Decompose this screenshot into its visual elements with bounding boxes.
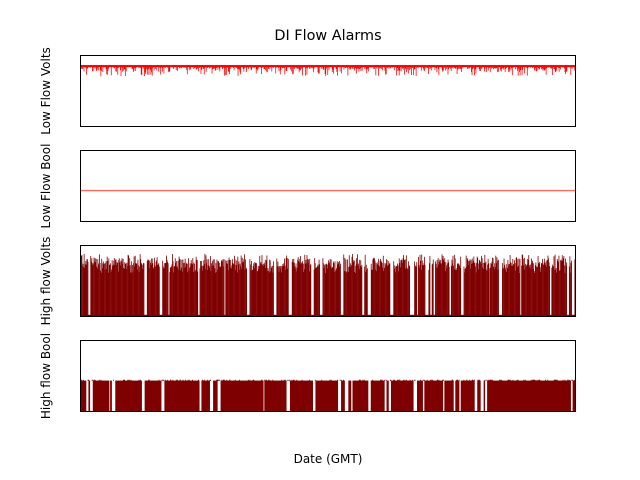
xtick-mark xyxy=(166,221,167,222)
xtick-mark xyxy=(571,316,572,317)
xtick-mark xyxy=(282,221,283,222)
subplot-low-flow-volts: 5 0 10-30 1210-30 1610-30 2010-31 0010-3… xyxy=(80,55,576,127)
xtick-mark xyxy=(108,221,109,222)
data-trace-high-flow-bool xyxy=(81,341,575,411)
xtick-mark xyxy=(282,411,283,412)
xtick-mark xyxy=(339,411,340,412)
subplot-low-flow-bool: 2 0 10-30 1210-30 1610-30 2010-31 0010-3… xyxy=(80,150,576,222)
xtick-mark xyxy=(397,221,398,222)
xtick-mark xyxy=(571,411,572,412)
xtick-mark xyxy=(224,411,225,412)
xtick-mark xyxy=(397,411,398,412)
xtick-mark xyxy=(339,316,340,317)
xtick-mark xyxy=(282,126,283,127)
matplotlib-figure: DI Flow Alarms 5 0 10-30 1210-30 1610-30… xyxy=(0,0,640,480)
xtick-mark xyxy=(513,221,514,222)
chart-title: DI Flow Alarms xyxy=(80,28,576,44)
xtick-mark xyxy=(108,316,109,317)
xtick-mark xyxy=(108,126,109,127)
xtick-mark xyxy=(339,126,340,127)
data-trace-low-flow-volts xyxy=(81,56,575,126)
data-trace-low-flow-bool xyxy=(81,151,575,221)
xtick-mark xyxy=(455,126,456,127)
xtick-mark xyxy=(282,316,283,317)
ylabel-high-flow-bool: High flow Bool xyxy=(39,333,53,419)
xtick-mark xyxy=(455,316,456,317)
ytick-mark xyxy=(80,65,81,66)
plot-area-3 xyxy=(81,341,575,411)
plot-area-2 xyxy=(81,246,575,316)
ytick-mark xyxy=(80,255,81,256)
xtick-mark xyxy=(513,316,514,317)
ytick-mark xyxy=(80,341,81,342)
xtick-mark xyxy=(397,316,398,317)
xtick-mark xyxy=(455,411,456,412)
ylabel-low-flow-volts: Low Flow Volts xyxy=(39,47,53,135)
ytick-mark xyxy=(80,221,81,222)
data-trace-high-flow-volts xyxy=(81,246,575,316)
ylabel-high-flow-volts: High flow Volts xyxy=(39,237,53,326)
plot-area-1 xyxy=(81,151,575,221)
xtick-mark xyxy=(224,316,225,317)
xtick-mark xyxy=(571,221,572,222)
xtick-mark xyxy=(571,126,572,127)
xtick-mark xyxy=(108,411,109,412)
xtick-mark xyxy=(224,221,225,222)
ytick-mark xyxy=(80,126,81,127)
subplot-high-flow-volts: 5 0 10-30 1210-30 1610-30 2010-31 0010-3… xyxy=(80,245,576,317)
plot-area-0 xyxy=(81,56,575,126)
ytick-mark xyxy=(80,411,81,412)
xtick-mark xyxy=(455,221,456,222)
xlabel: Date (GMT) xyxy=(80,452,576,466)
ytick-mark xyxy=(80,151,81,152)
xtick-mark xyxy=(513,411,514,412)
subplot-high-flow-bool: 2 0 10-30 1210-30 1610-30 2010-31 0010-3… xyxy=(80,340,576,412)
xtick-mark xyxy=(166,316,167,317)
xtick-mark xyxy=(224,126,225,127)
ytick-mark xyxy=(80,316,81,317)
xtick-mark xyxy=(339,221,340,222)
xtick-mark xyxy=(166,126,167,127)
xtick-mark xyxy=(513,126,514,127)
ylabel-low-flow-bool: Low Flow Bool xyxy=(39,144,53,229)
xtick-mark xyxy=(397,126,398,127)
xtick-mark xyxy=(166,411,167,412)
